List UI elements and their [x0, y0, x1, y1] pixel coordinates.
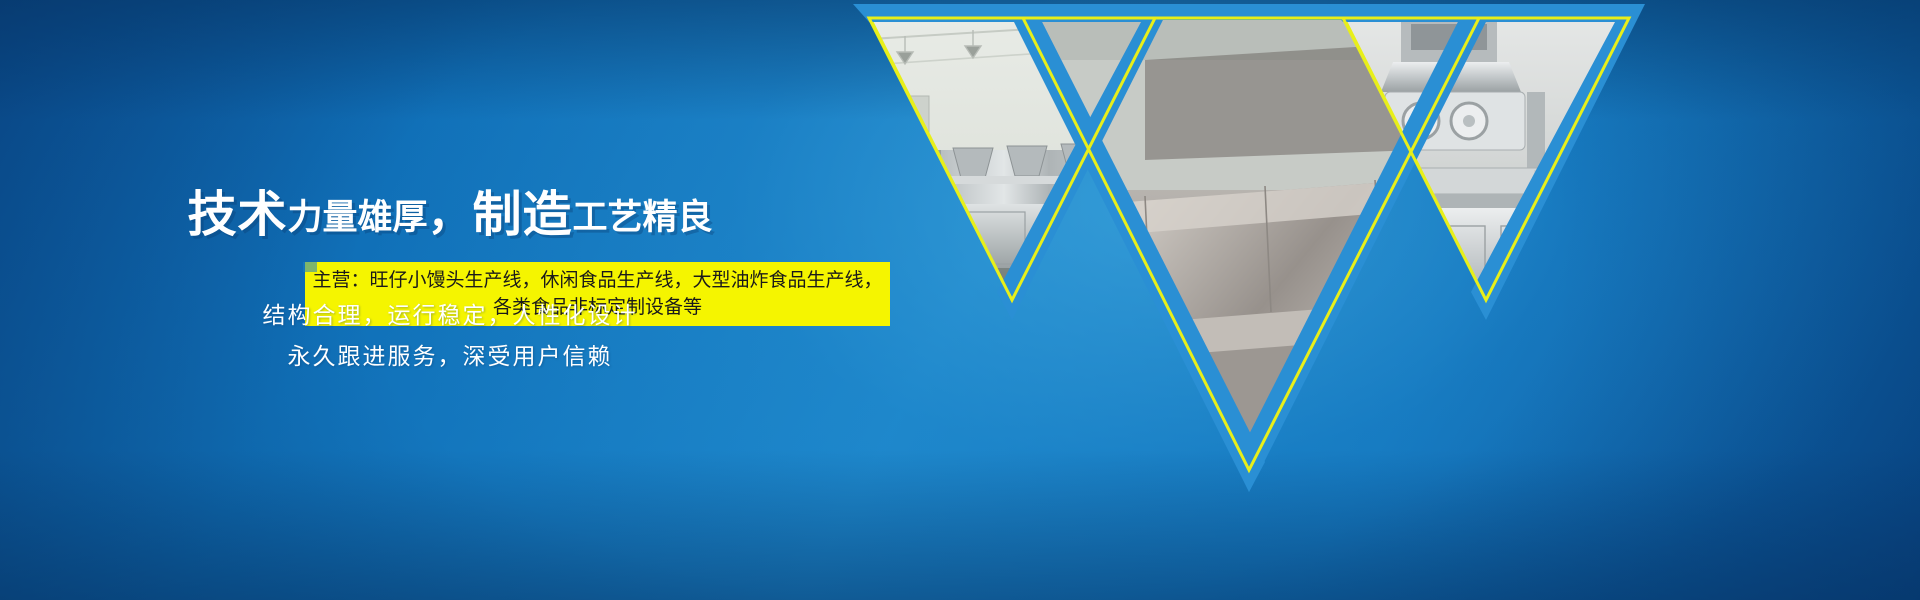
headline-seg-2: 力量雄厚 [287, 198, 427, 237]
headline-seg-4: 制造 [473, 188, 573, 242]
headline-seg-3: ， [428, 190, 473, 239]
subtitle-line-1: 结构合理，运行稳定，人性化设计 [0, 296, 900, 330]
banner-text-block: 技术力量雄厚，制造工艺精良 主营：旺仔小馒头生产线，休闲食品生产线，大型油炸食品… [0, 0, 920, 600]
subtitle-line-2: 永久跟进服务，深受用户信赖 [0, 337, 900, 371]
triangle-gallery [845, 0, 1920, 600]
headline-seg-1: 技术 [187, 188, 287, 242]
highlight-line-1: 主营：旺仔小馒头生产线，休闲食品生产线，大型油炸食品生产线， [312, 267, 882, 294]
promo-banner: 技术力量雄厚，制造工艺精良 主营：旺仔小馒头生产线，休闲食品生产线，大型油炸食品… [0, 0, 1920, 600]
headline: 技术力量雄厚，制造工艺精良 [0, 178, 900, 246]
headline-seg-5: 工艺精良 [573, 198, 713, 237]
